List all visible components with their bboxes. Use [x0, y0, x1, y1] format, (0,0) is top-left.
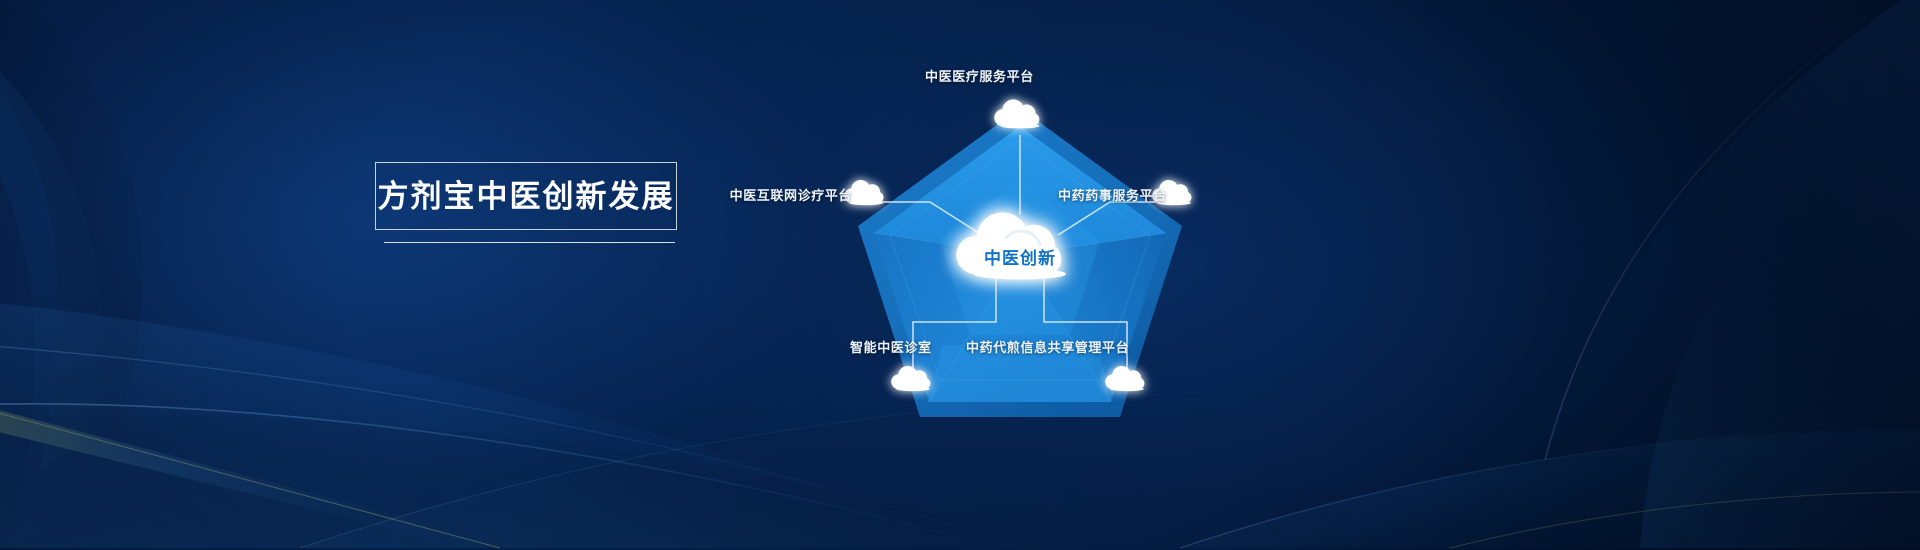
node-label-right: 中药药事服务平台 [1058, 185, 1167, 204]
banner-title-block: 方剂宝中医创新发展 [375, 162, 677, 230]
node-label-bottom-left: 智能中医诊室 [850, 337, 932, 356]
pentagon-diagram: 中医创新 中医医疗服务平台 中医互联网诊疗平台 中药药事服务平台 智能中医诊室 … [770, 30, 1270, 430]
node-label-left: 中医互联网诊疗平台 [730, 185, 852, 204]
cloud-icon-top [994, 99, 1039, 128]
title-underline [384, 242, 675, 243]
title-frame: 方剂宝中医创新发展 [375, 162, 677, 230]
node-label-top: 中医医疗服务平台 [925, 66, 1034, 85]
node-label-bottom-right: 中药代煎信息共享管理平台 [966, 337, 1129, 356]
page-title: 方剂宝中医创新发展 [378, 181, 675, 212]
hero-banner: 方剂宝中医创新发展 [0, 0, 1920, 550]
